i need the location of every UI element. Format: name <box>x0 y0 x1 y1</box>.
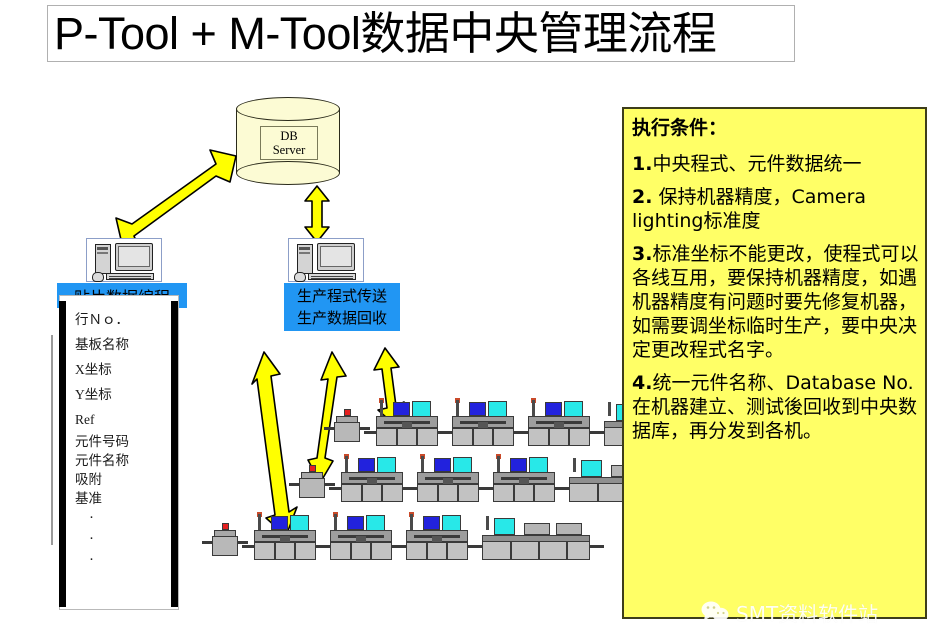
condition-item: 1.中央程式、元件数据统一 <box>632 152 919 176</box>
placement-machine-icon <box>250 514 320 562</box>
placement-machine-icon <box>372 400 442 448</box>
arrow-db-to-transfer-pc <box>300 186 334 242</box>
condition-text: 保持机器精度，Camera lighting标准度 <box>632 186 866 232</box>
caption-recovery-text: 生产数据回收 <box>297 307 387 329</box>
caption-transfer-recovery: 生产程式传送 生产数据回收 <box>284 283 400 331</box>
smt-line-2 <box>295 452 595 504</box>
pc-screen-icon <box>118 246 150 267</box>
program-field-item: · <box>75 550 179 571</box>
board-loader-icon <box>208 522 244 558</box>
program-field-item: · <box>75 529 179 550</box>
condition-item: 2. 保持机器精度，Camera lighting标准度 <box>632 185 919 233</box>
execution-conditions-panel: 执行条件： 1.中央程式、元件数据统一2. 保持机器精度，Camera ligh… <box>622 107 927 619</box>
pc-screen-icon <box>320 246 352 267</box>
program-field-item: Ref <box>75 407 179 432</box>
program-field-item: 元件号码 <box>75 432 179 451</box>
pc-mouse-icon <box>92 272 104 282</box>
program-field-item: 行Ｎｏ． <box>75 307 179 332</box>
condition-number: 3. <box>632 243 652 265</box>
page-title-text: P-Tool + M-Tool数据中央管理流程 <box>48 10 716 57</box>
db-label-line1: DB <box>280 129 297 143</box>
pc-tower-bay2-icon <box>97 252 108 254</box>
placement-machine-icon <box>448 400 518 448</box>
program-field-list: 行Ｎｏ．基板名称X坐标Y坐标Ref元件号码元件名称吸附基准··· <box>75 307 179 571</box>
placement-machine-icon <box>489 456 559 504</box>
pc-tower-bay-icon <box>97 247 108 250</box>
condition-text: 中央程式、元件数据统一 <box>652 153 861 175</box>
smt-line-1 <box>330 396 590 448</box>
cylinder-top <box>236 97 340 121</box>
program-field-item: 吸附 <box>75 470 179 489</box>
condition-number: 2. <box>632 186 652 208</box>
program-field-item: · <box>75 508 179 529</box>
placement-machine-icon <box>337 456 407 504</box>
slide-canvas: P-Tool + M-Tool数据中央管理流程 DB Server <box>0 0 943 641</box>
program-field-item: X坐标 <box>75 357 179 382</box>
pc-tower-bay-icon <box>299 247 310 250</box>
db-label-line2: Server <box>273 143 306 157</box>
reflow-oven-icon <box>480 514 592 562</box>
document-edge-line <box>51 335 53 545</box>
program-field-item: 基准 <box>75 489 179 508</box>
caption-transfer-text: 生产程式传送 <box>297 285 387 307</box>
pc-mouse-icon <box>294 272 306 282</box>
condition-text: 统一元件名称、Database No. 在机器建立、测试後回收到中央数据库，再分… <box>632 372 917 442</box>
placement-machine-icon <box>413 456 483 504</box>
placement-machine-icon <box>402 514 472 562</box>
board-loader-icon <box>330 408 366 444</box>
placement-machine-icon <box>326 514 396 562</box>
program-field-item: 基板名称 <box>75 332 179 357</box>
database-server-label: DB Server <box>260 126 318 160</box>
board-loader-icon <box>295 464 331 500</box>
transfer-workstation-icon <box>288 238 364 286</box>
database-server-cylinder: DB Server <box>236 97 340 185</box>
programming-workstation-icon <box>86 238 162 286</box>
condition-text: 标准坐标不能更改，使程式可以各线互用，要保持机器精度，如遇机器精度有问题时要先修… <box>632 243 918 361</box>
smt-line-3 <box>208 510 548 562</box>
condition-number: 1. <box>632 153 652 175</box>
placement-machine-icon <box>524 400 594 448</box>
condition-item: 4.统一元件名称、Database No. 在机器建立、测试後回收到中央数据库，… <box>632 371 919 443</box>
pc-keyboard-icon <box>308 273 356 280</box>
program-field-item: 元件名称 <box>75 451 179 470</box>
document-spine-left <box>59 301 66 607</box>
condition-item: 3.标准坐标不能更改，使程式可以各线互用，要保持机器精度，如遇机器精度有问题时要… <box>632 242 919 362</box>
pc-tower-bay2-icon <box>299 252 310 254</box>
cylinder-bottom <box>236 161 340 185</box>
pc-keyboard-icon <box>106 273 154 280</box>
conditions-list: 1.中央程式、元件数据统一2. 保持机器精度，Camera lighting标准… <box>632 152 919 443</box>
program-field-item: Y坐标 <box>75 382 179 407</box>
conditions-heading: 执行条件： <box>632 116 919 140</box>
program-data-document: 行Ｎｏ．基板名称X坐标Y坐标Ref元件号码元件名称吸附基准··· <box>47 295 193 610</box>
page-title: P-Tool + M-Tool数据中央管理流程 <box>47 5 795 62</box>
condition-number: 4. <box>632 372 652 394</box>
